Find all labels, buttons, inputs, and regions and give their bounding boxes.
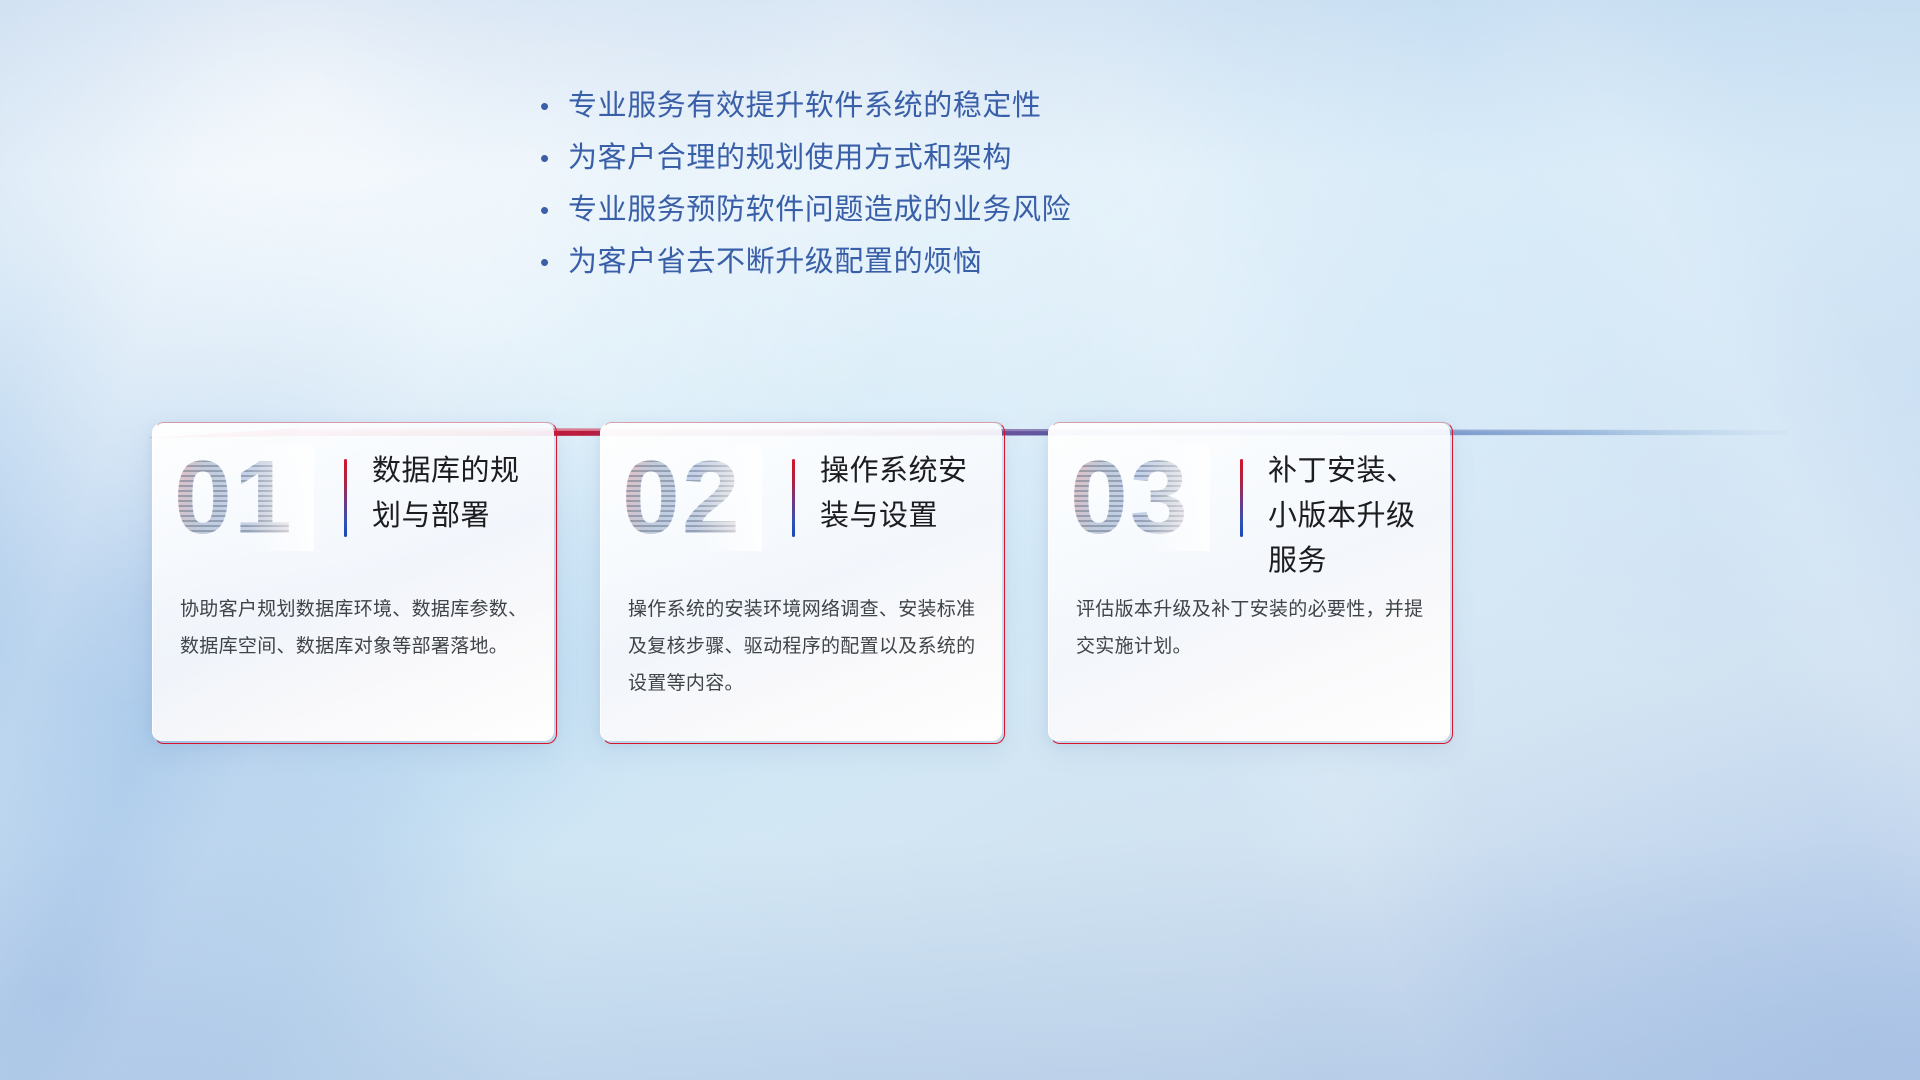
card-header: 01 数据库的规划与部署 <box>152 423 554 573</box>
feature-card-row: 01 数据库的规划与部署 协助客户规划数据库环境、数据库参数、数据库空间、数据库… <box>152 423 1792 753</box>
card-accent-rule <box>344 459 347 537</box>
card-number-watermark: 02 <box>622 445 762 551</box>
bullet-item: • 专业服务有效提升软件系统的稳定性 <box>540 88 1540 124</box>
card-description: 协助客户规划数据库环境、数据库参数、数据库空间、数据库对象等部署落地。 <box>180 591 528 665</box>
bullet-dot-icon: • <box>540 88 568 124</box>
bullet-label: 专业服务有效提升软件系统的稳定性 <box>568 88 1042 124</box>
bullet-dot-icon: • <box>540 192 568 228</box>
bullet-dot-icon: • <box>540 244 568 280</box>
bullet-label: 专业服务预防软件问题造成的业务风险 <box>568 192 1071 228</box>
card-number-watermark: 01 <box>174 445 314 551</box>
bullet-list: • 专业服务有效提升软件系统的稳定性 • 为客户合理的规划使用方式和架构 • 专… <box>540 88 1540 296</box>
card-number-glyph: 01 <box>174 445 314 551</box>
bullet-item: • 专业服务预防软件问题造成的业务风险 <box>540 192 1540 228</box>
card-header: 03 补丁安装、小版本升级服务 <box>1048 423 1450 573</box>
card-description: 评估版本升级及补丁安装的必要性，并提交实施计划。 <box>1076 591 1424 665</box>
card-header: 02 操作系统安装与设置 <box>600 423 1002 573</box>
card-number-fade <box>174 445 314 551</box>
bullet-dot-icon: • <box>540 140 568 176</box>
feature-card[interactable]: 02 操作系统安装与设置 操作系统的安装环境网络调查、安装标准及复核步骤、驱动程… <box>600 423 1002 741</box>
bullet-label: 为客户省去不断升级配置的烦恼 <box>568 244 982 280</box>
feature-card[interactable]: 01 数据库的规划与部署 协助客户规划数据库环境、数据库参数、数据库空间、数据库… <box>152 423 554 741</box>
bullet-item: • 为客户合理的规划使用方式和架构 <box>540 140 1540 176</box>
card-accent-rule <box>792 459 795 537</box>
card-description: 操作系统的安装环境网络调查、安装标准及复核步骤、驱动程序的配置以及系统的设置等内… <box>628 591 976 702</box>
card-number-fade <box>622 445 762 551</box>
card-number-glyph: 02 <box>622 445 762 551</box>
slide-canvas: • 专业服务有效提升软件系统的稳定性 • 为客户合理的规划使用方式和架构 • 专… <box>0 0 1920 1080</box>
feature-card[interactable]: 03 补丁安装、小版本升级服务 评估版本升级及补丁安装的必要性，并提交实施计划。 <box>1048 423 1450 741</box>
card-number-watermark: 03 <box>1070 445 1210 551</box>
card-number-glyph: 03 <box>1070 445 1210 551</box>
bullet-label: 为客户合理的规划使用方式和架构 <box>568 140 1012 176</box>
card-title: 补丁安装、小版本升级服务 <box>1268 449 1436 584</box>
card-number-fade <box>1070 445 1210 551</box>
card-title: 数据库的规划与部署 <box>372 449 540 539</box>
bullet-item: • 为客户省去不断升级配置的烦恼 <box>540 244 1540 280</box>
card-title: 操作系统安装与设置 <box>820 449 988 539</box>
card-accent-rule <box>1240 459 1243 537</box>
